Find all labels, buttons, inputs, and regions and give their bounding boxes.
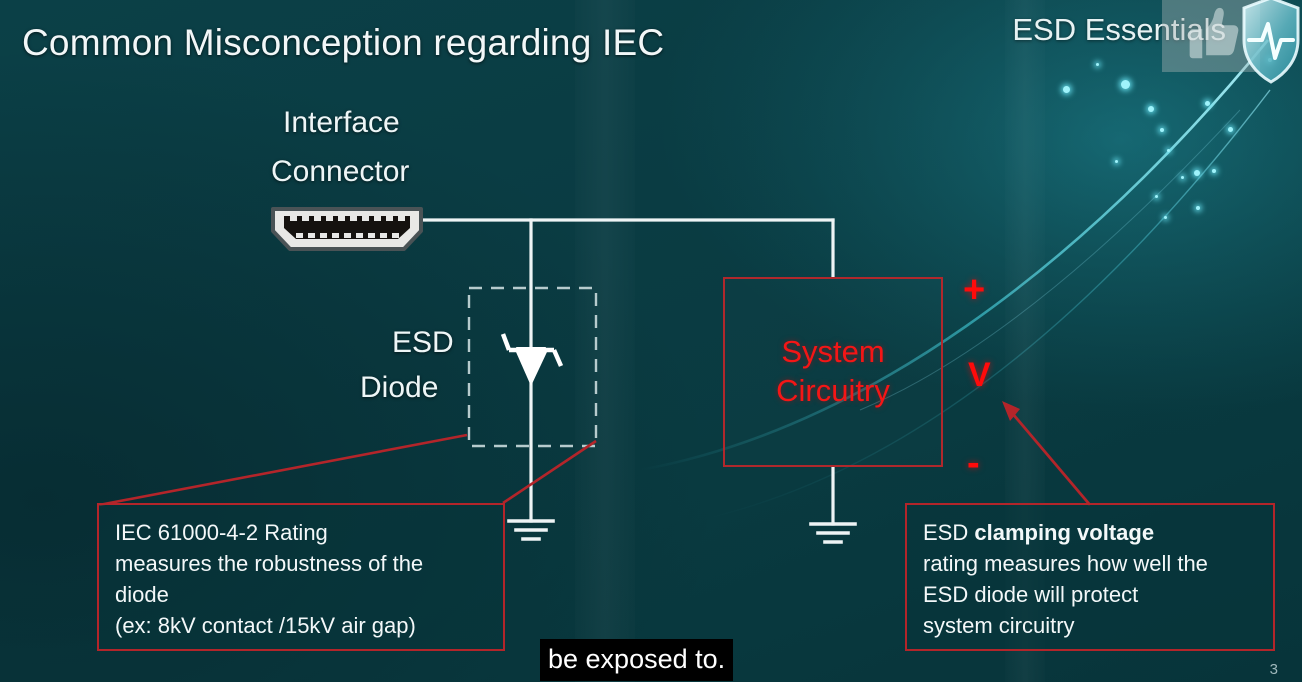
callout-right-line1-bold: clamping voltage	[974, 520, 1154, 545]
page-title: Common Misconception regarding IEC	[22, 22, 664, 64]
particle-dot	[1212, 169, 1216, 173]
polarity-minus-label: -	[967, 442, 980, 485]
particle-dot	[1194, 170, 1200, 176]
esd-label-line1: ESD	[392, 326, 454, 360]
callout-right-line1-prefix: ESD	[923, 520, 974, 545]
system-circuitry-box: System Circuitry	[723, 277, 943, 467]
zener-diode-icon	[503, 334, 561, 386]
particle-dot	[1063, 86, 1070, 93]
callout-left-line4: (ex: 8kV contact /15kV air gap)	[115, 610, 489, 641]
particle-dot	[1196, 206, 1200, 210]
particle-dot	[1115, 160, 1118, 163]
shield-pulse-logo-icon	[1240, 0, 1302, 88]
callout-right-line2: rating measures how well the	[923, 548, 1259, 579]
callout-left-line2: measures the robustness of the	[115, 548, 489, 579]
video-caption: be exposed to.	[540, 639, 733, 681]
ground-symbol-icon	[509, 521, 553, 539]
esd-label-line2: Diode	[360, 371, 438, 405]
interface-label-line1: Interface	[283, 106, 400, 140]
particle-dot	[1121, 80, 1130, 89]
polarity-voltage-label: V	[968, 356, 991, 395]
left-callout-leader	[99, 435, 596, 505]
callout-right: ESD clamping voltage rating measures how…	[905, 503, 1275, 651]
particle-dot	[1164, 216, 1167, 219]
particle-dot	[1148, 106, 1154, 112]
callout-right-line4: system circuitry	[923, 610, 1259, 641]
particle-dot	[1160, 128, 1164, 132]
system-box-line2: Circuitry	[776, 372, 890, 411]
particle-dot	[1096, 63, 1099, 66]
ground-symbol-icon	[811, 524, 855, 542]
callout-left-line1: IEC 61000-4-2 Rating	[115, 517, 489, 548]
callout-left-line3: diode	[115, 579, 489, 610]
callout-left: IEC 61000-4-2 Rating measures the robust…	[97, 503, 505, 651]
page-number: 3	[1270, 661, 1278, 678]
callout-right-line3: ESD diode will protect	[923, 579, 1259, 610]
callout-right-line1: ESD clamping voltage	[923, 517, 1259, 548]
slide-canvas: Common Misconception regarding IEC ESD E…	[0, 0, 1302, 682]
polarity-plus-label: +	[963, 269, 985, 312]
particle-dot	[1181, 176, 1184, 179]
hdmi-connector-icon	[268, 205, 426, 253]
system-box-line1: System	[781, 333, 884, 372]
particle-dot	[1155, 195, 1158, 198]
bg-stripe	[575, 0, 635, 682]
interface-label-line2: Connector	[271, 155, 409, 189]
particle-dot	[1228, 127, 1233, 132]
thumbs-up-icon[interactable]	[1178, 2, 1242, 64]
particle-dot	[1205, 101, 1210, 106]
particle-dot	[1167, 149, 1170, 152]
